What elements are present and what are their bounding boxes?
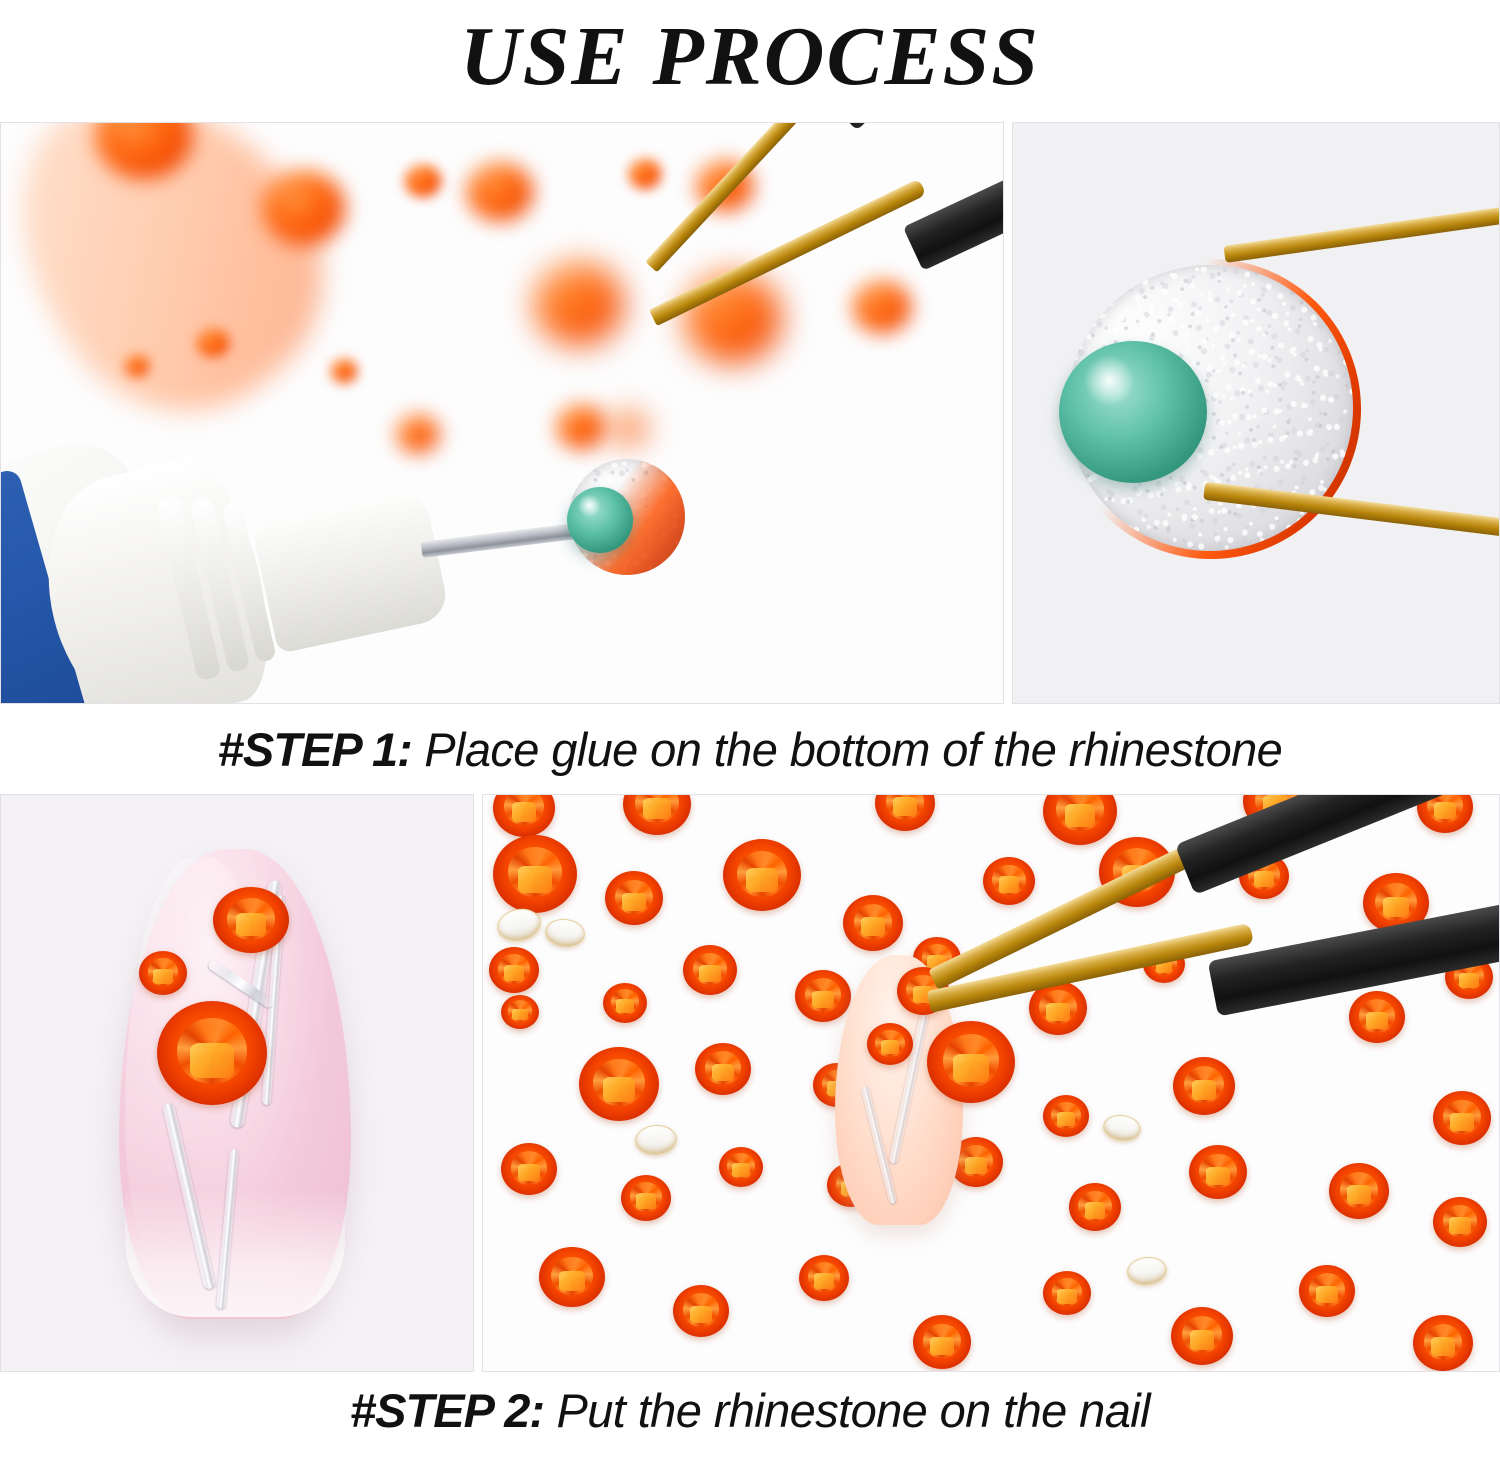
gold-tweezers xyxy=(541,122,1004,593)
step-2-description: Put the rhinestone on the nail xyxy=(544,1384,1150,1437)
placing-rhinestone-photo xyxy=(482,794,1500,1372)
gold-tweezers xyxy=(1203,163,1500,543)
step-1-caption: #STEP 1: Place glue on the bottom of the… xyxy=(0,704,1500,794)
step-1-label: #STEP 1: xyxy=(218,723,412,776)
scattered-rhinestone xyxy=(1413,1315,1473,1371)
step-1-description: Place glue on the bottom of the rhinesto… xyxy=(412,723,1282,776)
rhinestone-closeup-photo xyxy=(1012,122,1500,704)
scattered-rhinestone xyxy=(799,1255,849,1301)
artificial-nail xyxy=(119,849,369,1349)
scattered-rhinestone xyxy=(539,1247,605,1307)
step-2-caption-text: #STEP 2: Put the rhinestone on the nail xyxy=(350,1383,1150,1438)
scattered-rhinestone xyxy=(1043,1271,1091,1315)
page-header: USE PROCESS xyxy=(0,0,1500,122)
tweezer-grip-upper xyxy=(825,122,1004,131)
page-title: USE PROCESS xyxy=(460,15,1040,99)
scattered-rhinestone xyxy=(493,794,555,837)
scattered-rhinestone xyxy=(673,1285,729,1337)
tweezer-tip-lower xyxy=(1203,482,1500,543)
tweezer-grip-lower xyxy=(1208,900,1500,1016)
step-2-image-row xyxy=(0,794,1500,1372)
gold-tweezers xyxy=(903,794,1500,1155)
bokeh-stone xyxy=(467,163,533,221)
flipped-rhinestone-back xyxy=(544,917,587,949)
finished-nail-photo xyxy=(0,794,474,1372)
scattered-rhinestone xyxy=(605,871,663,925)
step-2-label: #STEP 2: xyxy=(350,1384,544,1437)
tweezer-grip-lower xyxy=(903,134,1004,270)
flipped-rhinestone-back xyxy=(1126,1255,1169,1287)
bottle-nozzle xyxy=(251,488,451,654)
scattered-rhinestone xyxy=(623,794,691,835)
step-2-section: #STEP 2: Put the rhinestone on the nail xyxy=(0,794,1500,1448)
nail-rhinestone-large xyxy=(213,887,289,953)
scattered-rhinestone xyxy=(493,835,577,913)
scattered-rhinestone xyxy=(489,947,539,993)
tweezer-arm-upper xyxy=(645,122,854,272)
scattered-rhinestone xyxy=(501,995,539,1029)
scattered-rhinestone xyxy=(843,895,903,951)
scattered-rhinestone xyxy=(1299,1265,1355,1317)
step-1-section: R D xyxy=(0,122,1500,794)
scattered-rhinestone xyxy=(1171,1307,1233,1365)
scattered-rhinestone xyxy=(1329,1163,1389,1219)
step-1-caption-text: #STEP 1: Place glue on the bottom of the… xyxy=(218,722,1282,777)
scattered-rhinestone xyxy=(723,839,801,911)
tweezer-arm-lower xyxy=(649,178,927,326)
scattered-rhinestone xyxy=(621,1175,671,1221)
nail-tip xyxy=(125,1189,345,1317)
scattered-rhinestone xyxy=(1433,1197,1487,1247)
scattered-rhinestone xyxy=(719,1147,763,1187)
bokeh-stone xyxy=(331,359,357,383)
scattered-rhinestone xyxy=(501,1143,557,1195)
nail-rhinestone-small xyxy=(139,951,187,995)
glue-droplet xyxy=(1059,341,1207,483)
nail-rhinestone-largest xyxy=(157,1001,267,1105)
bokeh-stone xyxy=(197,329,229,357)
scattered-rhinestone xyxy=(913,1315,971,1369)
step-1-image-row: R D xyxy=(0,122,1500,704)
scattered-rhinestone xyxy=(603,983,647,1023)
scattered-rhinestone xyxy=(683,945,737,995)
flipped-rhinestone-back xyxy=(634,1124,678,1157)
bokeh-stone xyxy=(397,415,439,453)
scattered-rhinestone xyxy=(695,1043,751,1095)
step-2-caption: #STEP 2: Put the rhinestone on the nail xyxy=(0,1372,1500,1448)
scattered-rhinestone xyxy=(579,1047,659,1121)
scattered-rhinestone xyxy=(1069,1183,1121,1231)
bokeh-stone xyxy=(125,355,149,377)
glue-application-photo: R D xyxy=(0,122,1004,704)
bokeh-stone xyxy=(405,165,441,197)
tweezer-grip-upper xyxy=(1175,794,1500,895)
tweezer-tip-upper xyxy=(1223,200,1500,263)
bokeh-stone xyxy=(263,171,345,245)
glue-bottle: R D xyxy=(0,453,501,704)
